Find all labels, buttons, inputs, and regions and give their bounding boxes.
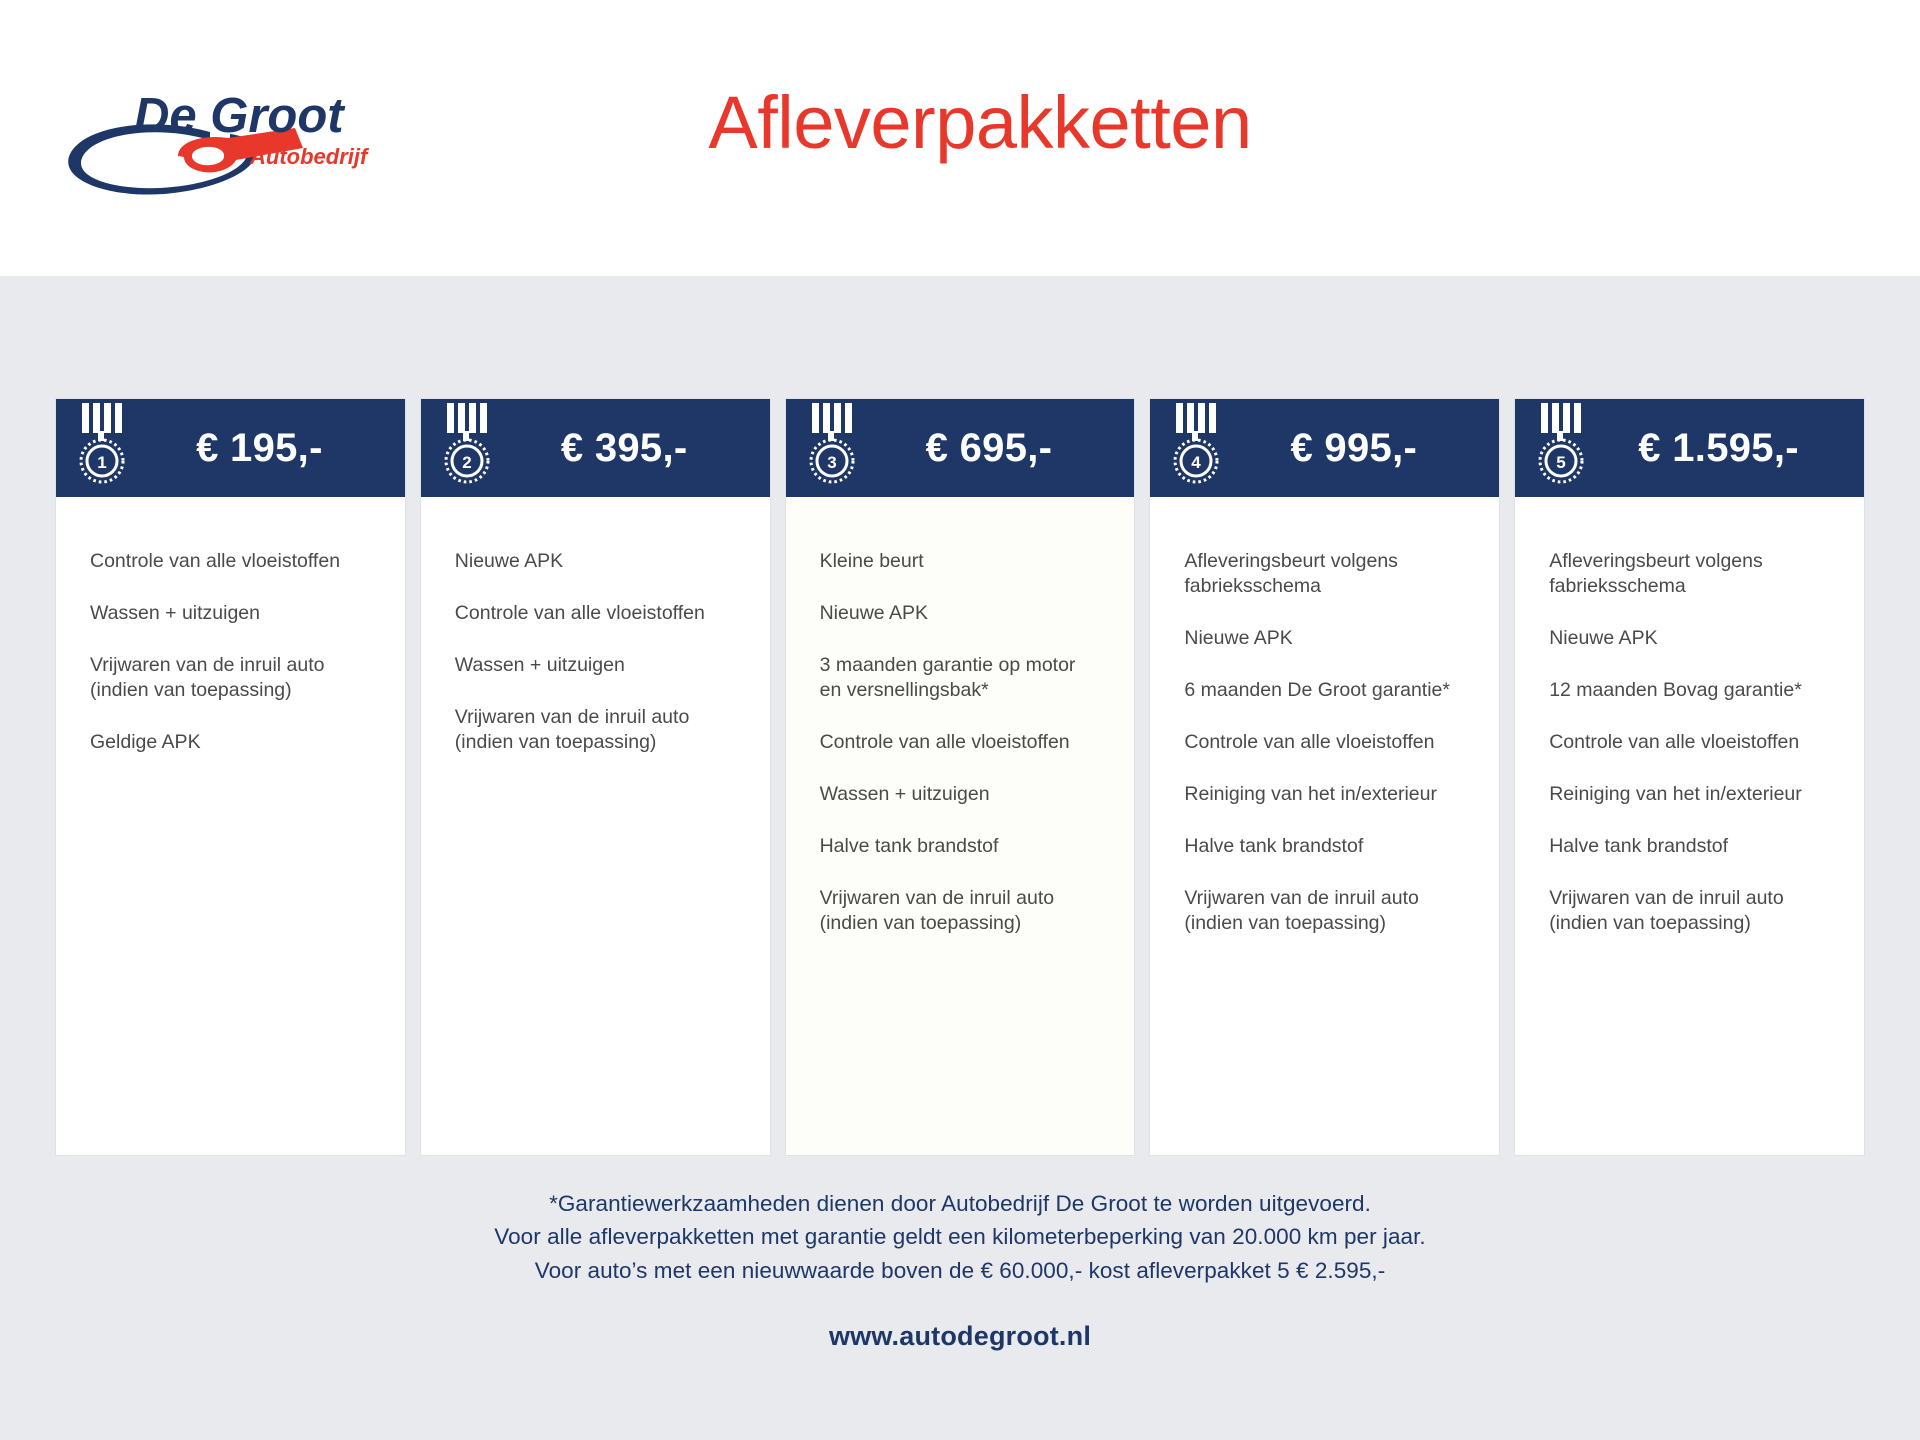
body-area: 1€ 195,-Controle van alle vloeistoffenWa… bbox=[0, 276, 1920, 1440]
package-feature-item: Vrijwaren van de inruil auto (indien van… bbox=[90, 653, 371, 703]
package-feature-item: 6 maanden De Groot garantie* bbox=[1184, 678, 1465, 703]
package-price: € 995,- bbox=[1230, 426, 1473, 471]
package-feature-item: Reiniging van het in/exterieur bbox=[1549, 782, 1830, 807]
package-card-header: 1€ 195,- bbox=[56, 399, 405, 497]
svg-text:2: 2 bbox=[462, 453, 471, 472]
medal-icon: 4 bbox=[1168, 403, 1230, 489]
package-feature-item: Nieuwe APK bbox=[455, 549, 736, 574]
package-card[interactable]: 5€ 1.595,-Afleveringsbeurt volgens fabri… bbox=[1515, 399, 1864, 1155]
package-feature-list: Afleveringsbeurt volgens fabrieksschemaN… bbox=[1150, 497, 1499, 1155]
package-feature-item: Wassen + uitzuigen bbox=[90, 601, 371, 626]
package-feature-item: Controle van alle vloeistoffen bbox=[90, 549, 371, 574]
package-feature-item: Controle van alle vloeistoffen bbox=[455, 601, 736, 626]
page-root: De Groot Autobedrijf Afleverpakketten 1€… bbox=[0, 0, 1920, 1440]
package-feature-item: Kleine beurt bbox=[820, 549, 1101, 574]
package-feature-item: Wassen + uitzuigen bbox=[820, 782, 1101, 807]
package-feature-item: Vrijwaren van de inruil auto (indien van… bbox=[1184, 886, 1465, 936]
package-feature-item: Vrijwaren van de inruil auto (indien van… bbox=[820, 886, 1101, 936]
package-card-grid: 1€ 195,-Controle van alle vloeistoffenWa… bbox=[56, 399, 1864, 1155]
package-feature-item: Nieuwe APK bbox=[1549, 626, 1830, 651]
package-feature-item: Geldige APK bbox=[90, 730, 371, 755]
package-feature-list: Afleveringsbeurt volgens fabrieksschemaN… bbox=[1515, 497, 1864, 1155]
package-feature-item: Reiniging van het in/exterieur bbox=[1184, 782, 1465, 807]
package-feature-item: Wassen + uitzuigen bbox=[455, 653, 736, 678]
page-title: Afleverpakketten bbox=[560, 86, 1400, 160]
svg-text:4: 4 bbox=[1192, 453, 1202, 472]
package-feature-item: 12 maanden Bovag garantie* bbox=[1549, 678, 1830, 703]
package-feature-item: Controle van alle vloeistoffen bbox=[1549, 730, 1830, 755]
package-feature-item: 3 maanden garantie op motor en versnelli… bbox=[820, 653, 1101, 703]
package-feature-item: Halve tank brandstof bbox=[820, 834, 1101, 859]
svg-text:De Groot: De Groot bbox=[134, 89, 345, 143]
package-card-header: 5€ 1.595,- bbox=[1515, 399, 1864, 497]
medal-icon: 2 bbox=[439, 403, 501, 489]
package-feature-item: Nieuwe APK bbox=[820, 601, 1101, 626]
medal-icon: 3 bbox=[804, 403, 866, 489]
package-price: € 1.595,- bbox=[1595, 426, 1838, 471]
package-feature-item: Halve tank brandstof bbox=[1184, 834, 1465, 859]
website-url[interactable]: www.autodegroot.nl bbox=[0, 1321, 1920, 1352]
package-card-header: 2€ 395,- bbox=[421, 399, 770, 497]
package-feature-list: Kleine beurtNieuwe APK3 maanden garantie… bbox=[786, 497, 1135, 1155]
svg-text:3: 3 bbox=[827, 453, 836, 472]
package-price: € 195,- bbox=[136, 426, 379, 471]
package-feature-list: Nieuwe APKControle van alle vloeistoffen… bbox=[421, 497, 770, 1155]
header-band: De Groot Autobedrijf Afleverpakketten bbox=[0, 0, 1920, 276]
medal-icon: 1 bbox=[74, 403, 136, 489]
package-card-header: 3€ 695,- bbox=[786, 399, 1135, 497]
package-price: € 395,- bbox=[501, 426, 744, 471]
package-feature-item: Vrijwaren van de inruil auto (indien van… bbox=[455, 705, 736, 755]
package-card-header: 4€ 995,- bbox=[1150, 399, 1499, 497]
package-feature-item: Vrijwaren van de inruil auto (indien van… bbox=[1549, 886, 1830, 936]
package-feature-item: Controle van alle vloeistoffen bbox=[1184, 730, 1465, 755]
package-feature-list: Controle van alle vloeistoffenWassen + u… bbox=[56, 497, 405, 1155]
svg-text:5: 5 bbox=[1556, 453, 1565, 472]
package-card[interactable]: 2€ 395,-Nieuwe APKControle van alle vloe… bbox=[421, 399, 770, 1155]
package-card[interactable]: 4€ 995,-Afleveringsbeurt volgens fabriek… bbox=[1150, 399, 1499, 1155]
medal-icon: 5 bbox=[1533, 403, 1595, 489]
package-card[interactable]: 1€ 195,-Controle van alle vloeistoffenWa… bbox=[56, 399, 405, 1155]
package-feature-item: Afleveringsbeurt volgens fabrieksschema bbox=[1549, 549, 1830, 599]
package-feature-item: Afleveringsbeurt volgens fabrieksschema bbox=[1184, 549, 1465, 599]
package-feature-item: Controle van alle vloeistoffen bbox=[820, 730, 1101, 755]
logo-swoosh-icon: De Groot Autobedrijf bbox=[60, 84, 450, 204]
package-feature-item: Nieuwe APK bbox=[1184, 626, 1465, 651]
package-price: € 695,- bbox=[866, 426, 1109, 471]
svg-text:Autobedrijf: Autobedrijf bbox=[249, 144, 370, 169]
footer-disclaimer-line-1: *Garantiewerkzaamheden dienen door Autob… bbox=[0, 1187, 1920, 1220]
package-feature-item: Halve tank brandstof bbox=[1549, 834, 1830, 859]
company-logo[interactable]: De Groot Autobedrijf bbox=[60, 84, 450, 204]
package-card[interactable]: 3€ 695,-Kleine beurtNieuwe APK3 maanden … bbox=[786, 399, 1135, 1155]
svg-text:1: 1 bbox=[97, 453, 106, 472]
footer-disclaimer-line-2: Voor alle afleverpakketten met garantie … bbox=[0, 1220, 1920, 1253]
footer: *Garantiewerkzaamheden dienen door Autob… bbox=[0, 1187, 1920, 1352]
footer-disclaimer-line-3: Voor auto’s met een nieuwwaarde boven de… bbox=[0, 1254, 1920, 1287]
